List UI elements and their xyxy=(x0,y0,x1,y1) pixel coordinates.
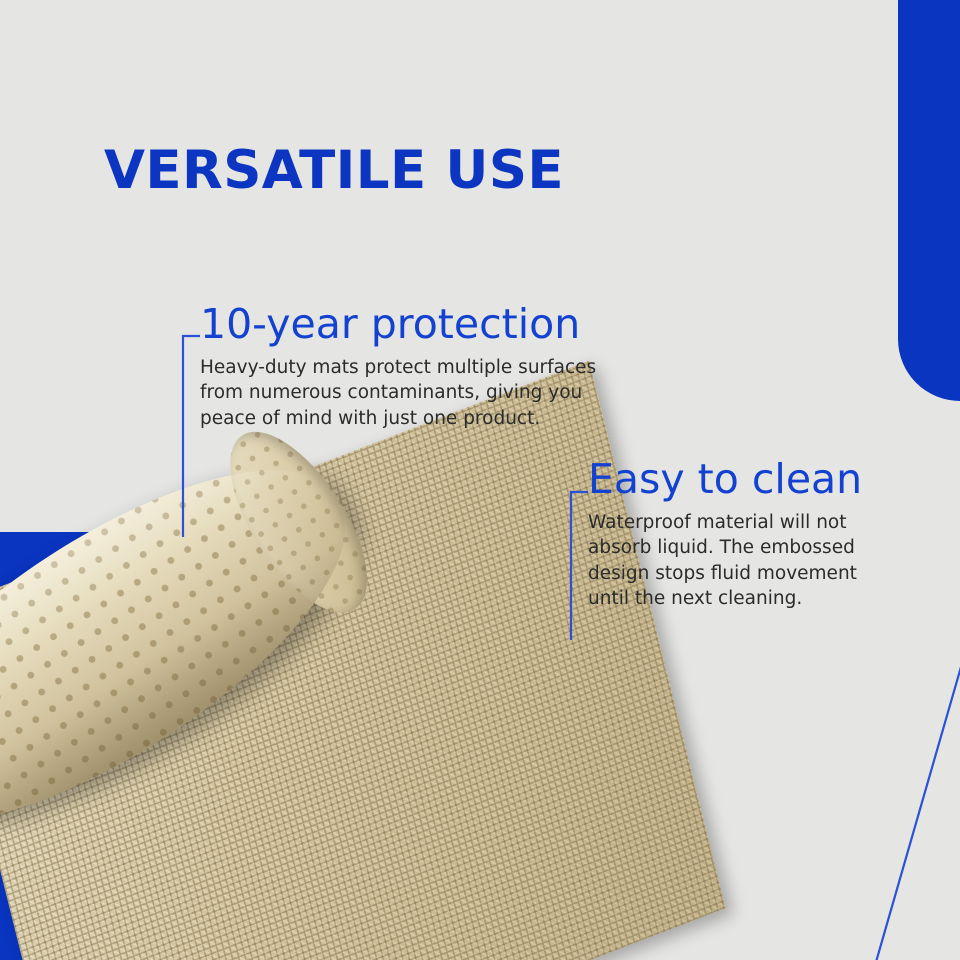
feature-body-line: design stops fluid movement xyxy=(588,561,862,586)
blue-panel-top-right xyxy=(898,0,960,401)
feature-heading: 10-year protection xyxy=(200,303,596,346)
feature-heading: Easy to clean xyxy=(588,458,862,501)
feature-body: Waterproof material will not absorb liqu… xyxy=(588,510,862,611)
feature-body: Heavy-duty mats protect multiple surface… xyxy=(200,355,596,431)
product-photo-mat xyxy=(0,470,640,960)
feature-body-line: from numerous contaminants, giving you xyxy=(200,380,596,405)
infographic-canvas: VERSATILE USE 10-year protection Heavy-d… xyxy=(0,0,960,960)
feature-body-line: until the next cleaning. xyxy=(588,586,862,611)
feature-body-line: absorb liquid. The embossed xyxy=(588,535,862,560)
feature-body-line: peace of mind with just one product. xyxy=(200,406,596,431)
feature-body-line: Heavy-duty mats protect multiple surface… xyxy=(200,355,596,380)
feature-block-protection: 10-year protection Heavy-duty mats prote… xyxy=(200,303,596,431)
feature-body-line: Waterproof material will not xyxy=(588,510,862,535)
page-title: VERSATILE USE xyxy=(104,140,564,201)
feature-block-easy-to-clean: Easy to clean Waterproof material will n… xyxy=(588,458,862,611)
